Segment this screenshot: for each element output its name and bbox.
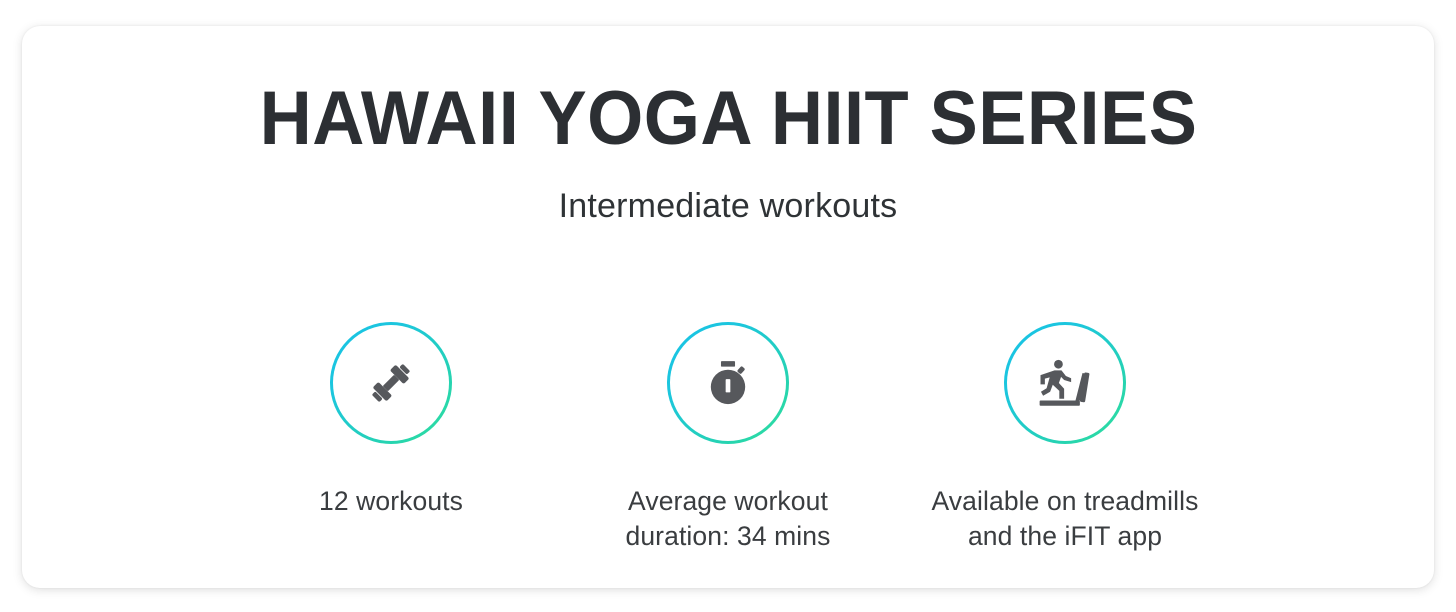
feature-item-workouts: 12 workouts: [223, 322, 560, 519]
screenshot-stage: HAWAII YOGA HIIT SERIES Intermediate wor…: [0, 0, 1456, 612]
series-info-card: HAWAII YOGA HIIT SERIES Intermediate wor…: [22, 26, 1434, 588]
treadmill-icon: [1037, 355, 1093, 411]
feature-icon-circle: [1004, 322, 1126, 444]
page-subtitle: Intermediate workouts: [559, 189, 898, 223]
feature-item-availability: Available on treadmills and the iFIT app: [897, 322, 1234, 554]
feature-icon-circle: [667, 322, 789, 444]
feature-icon-circle: [330, 322, 452, 444]
card-content: HAWAII YOGA HIIT SERIES Intermediate wor…: [22, 26, 1434, 588]
stopwatch-icon: [703, 358, 753, 408]
feature-caption: Available on treadmills and the iFIT app: [932, 484, 1199, 554]
feature-caption: 12 workouts: [319, 484, 463, 519]
dumbbell-icon: [365, 357, 417, 409]
feature-list: 12 workouts Average workout duration: 34…: [22, 322, 1434, 554]
page-title: HAWAII YOGA HIIT SERIES: [259, 81, 1197, 157]
feature-caption: Average workout duration: 34 mins: [626, 484, 831, 554]
feature-item-duration: Average workout duration: 34 mins: [560, 322, 897, 554]
